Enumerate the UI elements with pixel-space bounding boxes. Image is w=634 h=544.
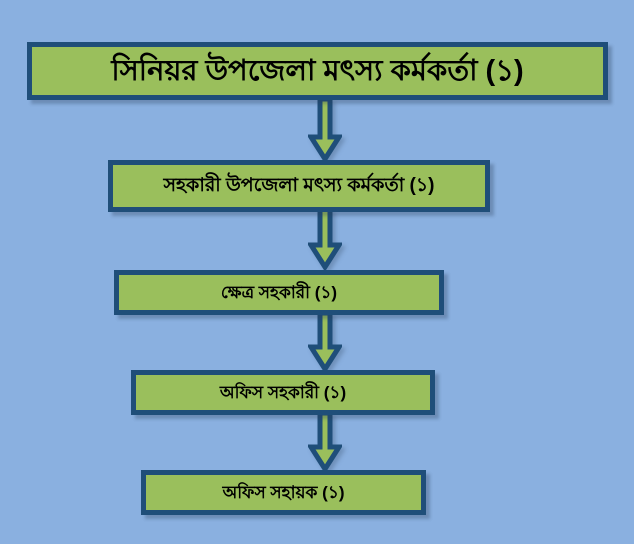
arrow-down-icon bbox=[308, 209, 342, 271]
org-node-label: অফিস সহকারী (১) bbox=[220, 384, 346, 402]
org-node-assistant-upazila-fisheries-officer[interactable]: সহকারী উপজেলা মৎস্য কর্মকর্তা (১) bbox=[108, 160, 490, 212]
arrow-down-icon bbox=[308, 313, 342, 373]
org-node-label: সহকারী উপজেলা মৎস্য কর্মকর্তা (১) bbox=[164, 176, 435, 196]
org-node-label: সিনিয়র উপজেলা মৎস্য কর্মকর্তা (১) bbox=[111, 56, 523, 86]
connector-node3-to-node4 bbox=[308, 313, 342, 373]
org-node-field-assistant[interactable]: ক্ষেত্র সহকারী (১) bbox=[114, 270, 444, 315]
org-node-office-assistant[interactable]: অফিস সহকারী (১) bbox=[131, 370, 435, 415]
connector-node1-to-node2 bbox=[308, 99, 342, 163]
connector-node2-to-node3 bbox=[308, 209, 342, 271]
org-node-label: অফিস সহায়ক (১) bbox=[222, 484, 344, 502]
connector-node4-to-node5 bbox=[308, 413, 342, 473]
org-node-senior-upazila-fisheries-officer[interactable]: সিনিয়র উপজেলা মৎস্য কর্মকর্তা (১) bbox=[27, 42, 608, 100]
org-chart-diagram: সিনিয়র উপজেলা মৎস্য কর্মকর্তা (১) সহকার… bbox=[0, 0, 634, 544]
arrow-down-icon bbox=[308, 413, 342, 473]
arrow-down-icon bbox=[308, 99, 342, 163]
org-node-label: ক্ষেত্র সহকারী (১) bbox=[221, 284, 337, 302]
org-node-office-support-staff[interactable]: অফিস সহায়ক (১) bbox=[141, 470, 426, 515]
